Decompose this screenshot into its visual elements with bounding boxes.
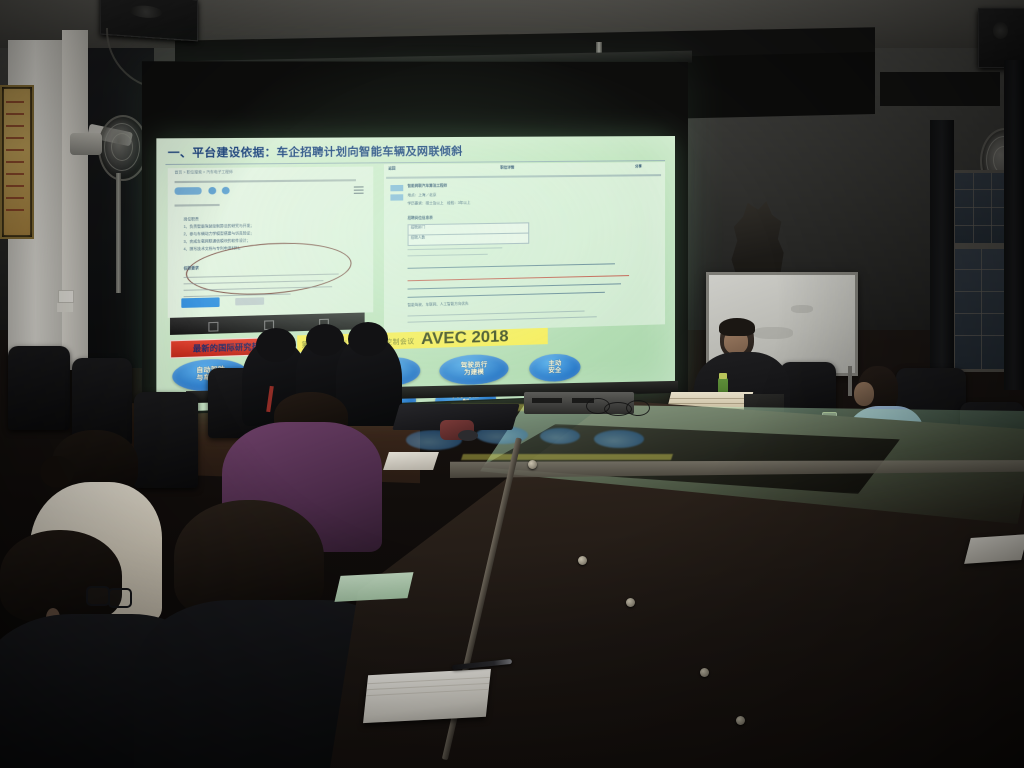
right-panel-nav-back[interactable]: 返回 [388,166,395,172]
table-bolt-1 [528,460,537,469]
left-panel-breadcrumb: 首页 > 职位搜索 > 汽车电子工程师 [175,170,233,176]
window-blinds [880,72,1000,106]
left-panel-tag-3: 3、完成车载网联通信模块的软件设计； [184,238,251,245]
left-panel-tag-1: 1、负责智能驾驶控制算法的研究与开发； [184,224,254,231]
right-panel-field-1: 招聘部门 [411,225,425,231]
curtain-right-edge [1004,60,1024,390]
right-panel-field-2: 招聘人数 [411,235,425,241]
papers-right-table[interactable] [964,534,1024,564]
right-panel-meta-degree: 学历要求：硕士及以上 经验：3年以上 [408,201,471,207]
wall-fan-left-icon [98,115,148,181]
papers-mid-table[interactable] [383,452,439,470]
table-bolt-2 [578,556,587,565]
left-panel-apply-button[interactable] [181,297,219,308]
slide-right-screenshot: 返回 职位详情 分享 智能网联汽车算法工程师 地点：上海／北京 学历要求：硕士及… [384,162,665,333]
slide-left-screenshot: 首页 > 职位搜索 > 汽车电子工程师 岗位职责 1、负责智能驾驶控制算法的研究… [168,167,374,318]
avec-tag: AVEC 2018 [421,328,508,349]
table-bolt-5 [736,716,745,725]
glasses-icon [86,586,128,610]
speaker-hair [719,318,755,336]
papers-left-table[interactable] [334,572,413,602]
speaker-icon-right [978,8,1024,68]
mouse[interactable] [458,430,478,441]
cream-coat-hair-bun [40,456,74,488]
left-panel-menu-icon[interactable] [354,186,364,187]
door-frame [62,30,88,370]
left-panel-requirement-heading: 任职要求 [184,266,199,272]
bottle-cap[interactable] [719,373,727,379]
right-panel-meta-location: 地点：上海／北京 [408,193,437,199]
table-bolt-4 [700,668,709,677]
left-panel-tag-2: 2、参与车辆动力学模型搭建与仿真验证； [184,231,254,238]
table-bolt-3 [626,598,635,607]
right-panel-section-heading: 招聘岗位信息表 [408,216,433,222]
right-panel-nav-title: 职位详情 [500,165,514,171]
light-switch-lower[interactable] [57,303,73,312]
curtain-right-inner [930,120,954,370]
notice-board [0,85,34,239]
cables [586,398,652,420]
bubble-row1-4: 主动 安全 [529,353,580,382]
right-panel-nav-share[interactable]: 分享 [635,164,642,169]
left-panel-save-button[interactable] [235,297,264,305]
slide-title: 一、平台建设依据：车企招聘计划向智能车辆及网联倾斜 [168,142,669,161]
conference-room-photo: 一、平台建设依据：车企招聘计划向智能车辆及网联倾斜 首页 > 职位搜索 > 汽车… [0,0,1024,768]
right-panel-job-title: 智能网联汽车算法工程师 [408,183,448,189]
notepad[interactable] [363,669,491,723]
chair-back-1[interactable] [8,346,70,430]
bubble-row1-3: 驾驶员行 为建模 [439,354,508,386]
left-panel-tag-0: 岗位职责 [184,217,199,223]
light-switch[interactable] [58,290,74,303]
right-panel-tail-note: 智能驾驶、车联网、人工智能方向优先 [408,301,469,308]
